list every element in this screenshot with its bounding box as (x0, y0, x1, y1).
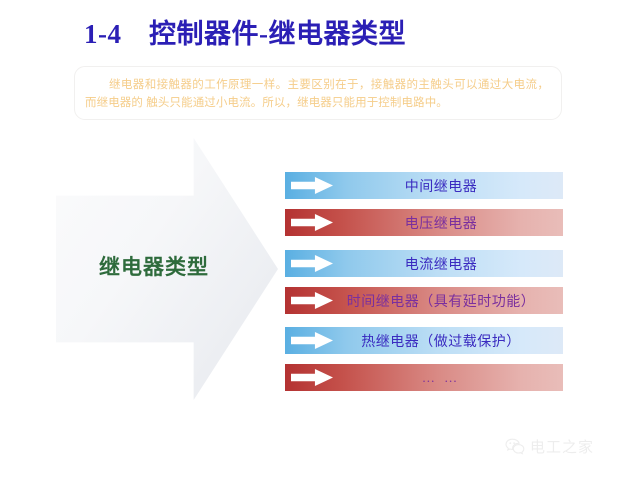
relay-type-label: … … (333, 370, 563, 386)
relay-type-bar[interactable]: 电流继电器 (285, 250, 563, 277)
relay-type-bar[interactable]: 中间继电器 (285, 172, 563, 199)
arrow-right-icon (291, 332, 333, 349)
arrow-right-icon (291, 292, 333, 309)
arrow-right-icon (291, 369, 333, 386)
arrow-right-icon (291, 214, 333, 231)
relay-type-bar[interactable]: … … (285, 364, 563, 391)
relay-type-label: 热继电器（做过载保护） (333, 331, 563, 351)
relay-type-bar[interactable]: 热继电器（做过载保护） (285, 327, 563, 354)
wechat-icon (505, 438, 525, 455)
relay-type-label: 电压继电器 (333, 213, 563, 233)
watermark-label: 电工之家 (530, 436, 594, 457)
description-text: 继电器和接触器的工作原理一样。主要区别在于，接触器的主触头可以通过大电流，而继电… (85, 76, 549, 112)
arrow-right-icon (291, 177, 333, 194)
page-title: 1-4 控制器件-继电器类型 (84, 12, 406, 51)
relay-type-label: 电流继电器 (333, 254, 563, 274)
category-arrow-label: 继电器类型 (56, 251, 252, 281)
arrow-right-icon (291, 255, 333, 272)
slide-canvas: 1-4 控制器件-继电器类型 继电器和接触器的工作原理一样。主要区别在于，接触器… (0, 0, 640, 480)
relay-type-bar[interactable]: 时间继电器（具有延时功能） (285, 287, 563, 314)
relay-type-bar[interactable]: 电压继电器 (285, 209, 563, 236)
watermark: 电工之家 (505, 436, 594, 457)
relay-type-label: 中间继电器 (333, 176, 563, 196)
relay-type-label: 时间继电器（具有延时功能） (333, 291, 563, 311)
